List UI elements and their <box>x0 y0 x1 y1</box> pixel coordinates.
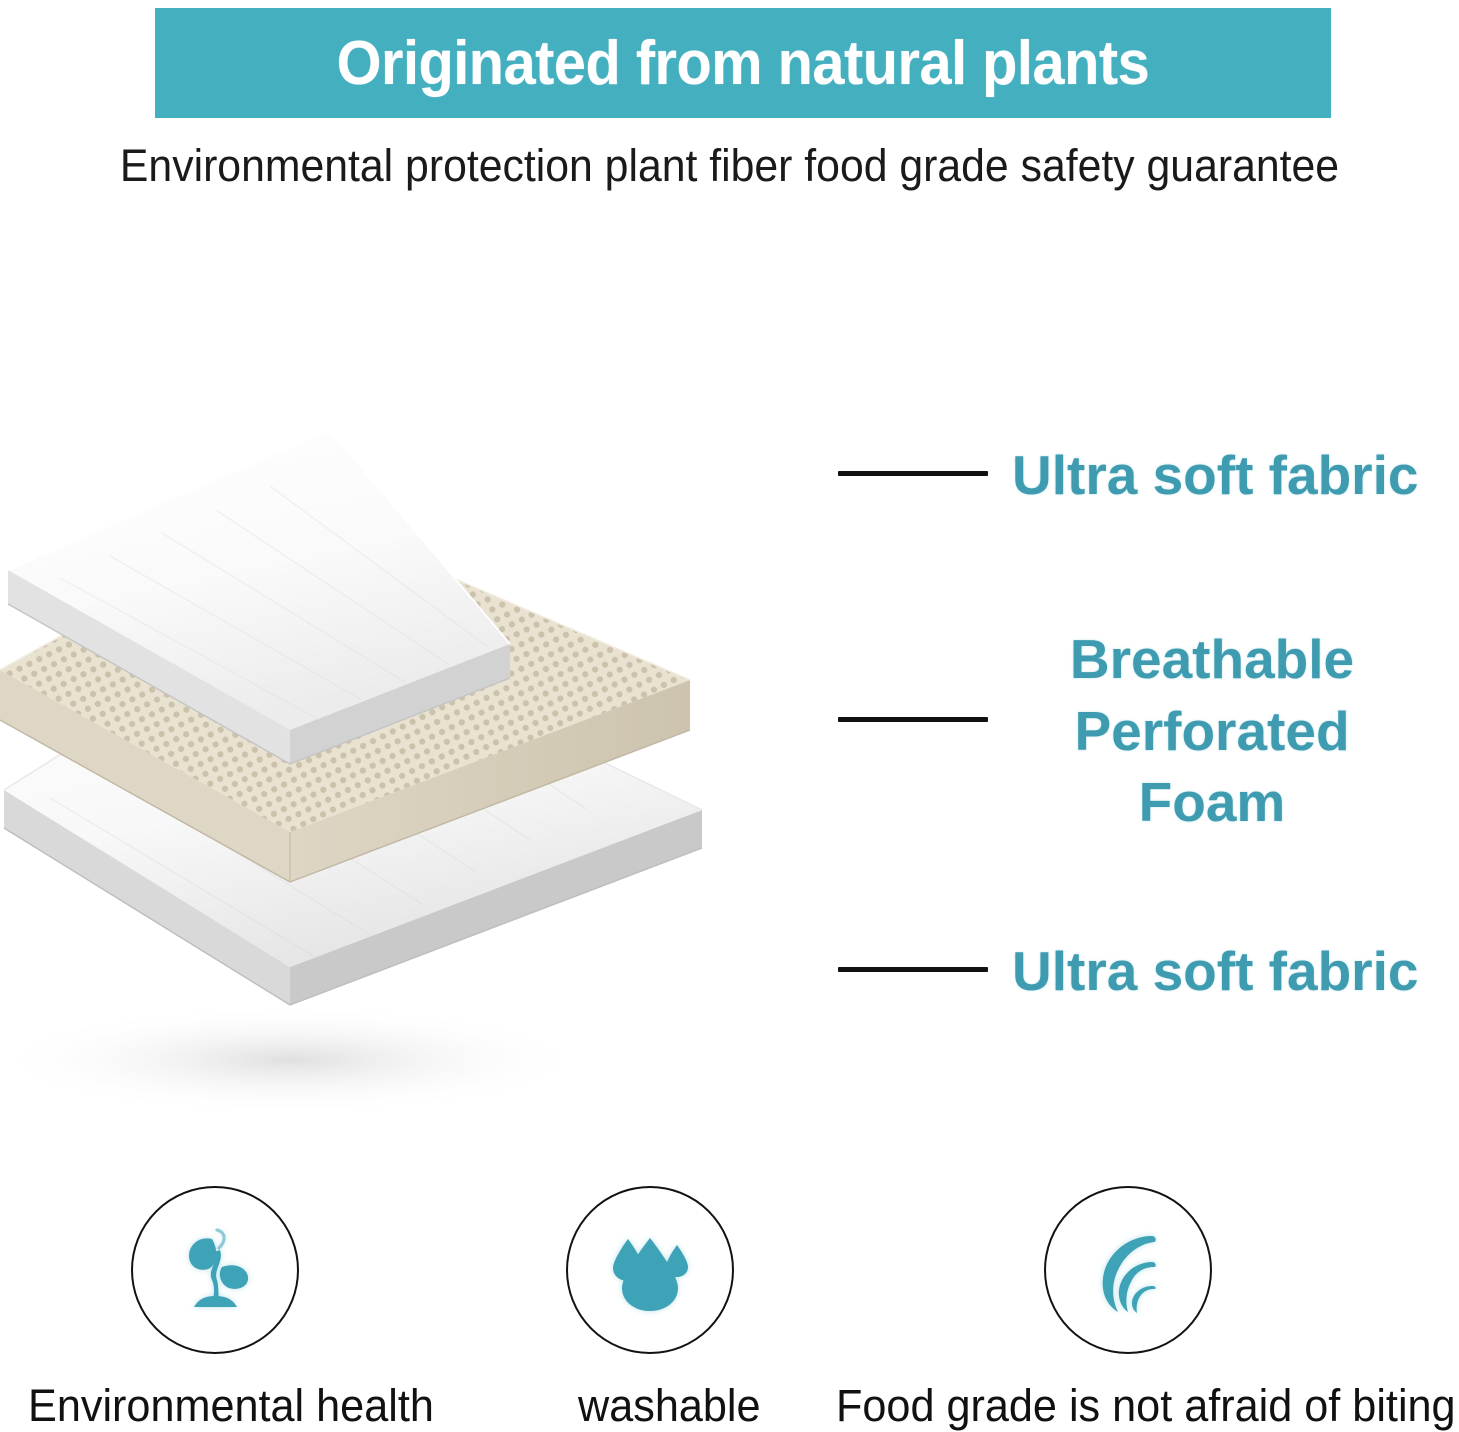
hero-title: Originated from natural plants <box>337 28 1150 99</box>
callout-bottom-label: Ultra soft fabric <box>1012 936 1418 1008</box>
exploded-layer-diagram <box>0 420 810 1120</box>
leader-line-icon <box>838 967 988 972</box>
leader-line-icon <box>838 471 988 476</box>
feature-row: Environmental health washable <box>0 1186 1459 1424</box>
callout-top-label: Ultra soft fabric <box>1012 440 1418 512</box>
feature-caption-food-grade: Food grade is not afraid of biting <box>836 1380 1456 1432</box>
hero-banner: Originated from natural plants <box>155 8 1331 118</box>
callout-middle-label: Breathable Perforated Foam <box>1012 624 1412 839</box>
hero-subtitle: Environmental protection plant fiber foo… <box>36 140 1422 192</box>
layer-shadow <box>0 1005 590 1115</box>
leader-line-icon <box>838 717 988 722</box>
feature-circle-frame <box>1044 1186 1212 1354</box>
sprout-icon <box>167 1222 263 1318</box>
feature-caption-washable: washable <box>578 1380 761 1432</box>
feature-circle-frame <box>131 1186 299 1354</box>
feature-caption-environmental-health: Environmental health <box>28 1380 434 1432</box>
feather-wave-icon <box>1080 1222 1176 1318</box>
water-drops-icon <box>602 1222 698 1318</box>
feature-circle-frame <box>566 1186 734 1354</box>
